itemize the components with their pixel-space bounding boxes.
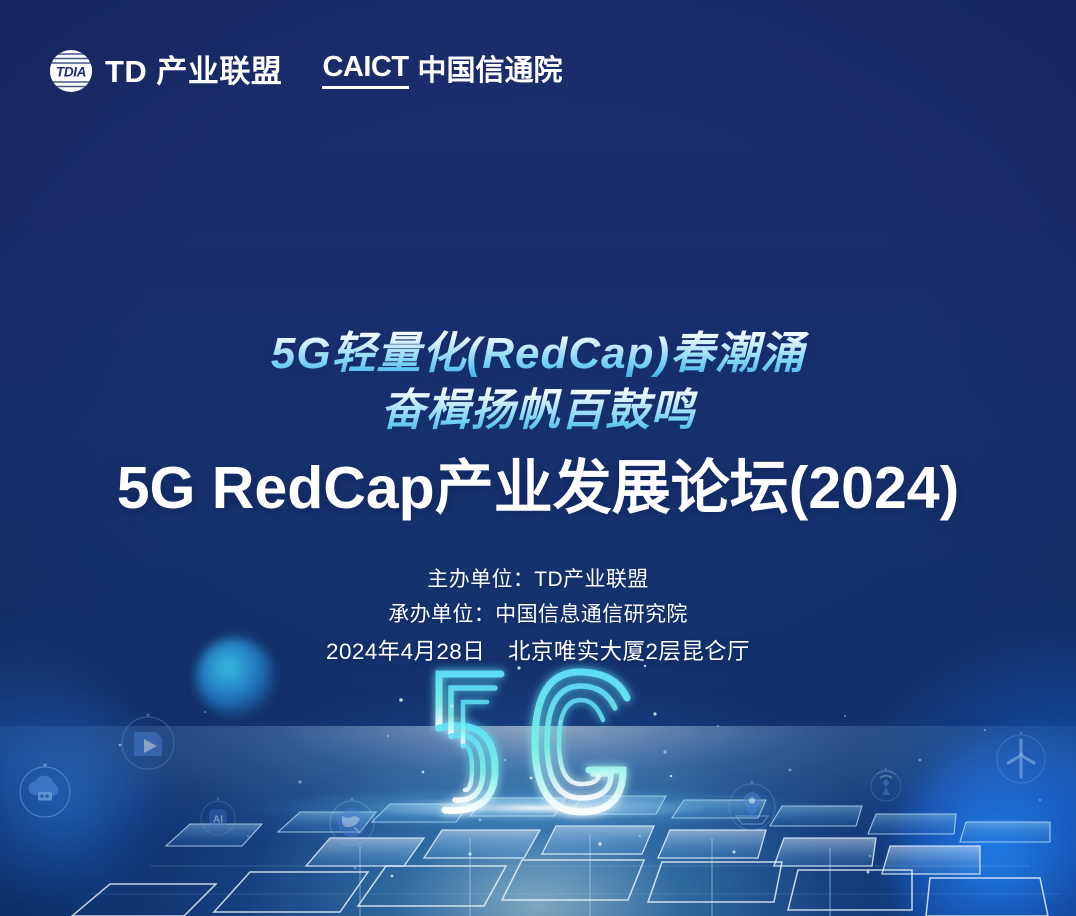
location-pin-icon	[724, 778, 780, 834]
logo-bar: TDIA TD 产业联盟 CAICT 中国信通院	[48, 48, 563, 94]
organizer-line: 主办单位：TD产业联盟	[0, 562, 1076, 597]
poster-canvas: AI	[0, 0, 1076, 916]
video-play-icon	[116, 710, 180, 774]
tdia-mark-icon: TDIA	[48, 48, 94, 94]
page-title: 5G RedCap产业发展论坛(2024)	[0, 455, 1076, 522]
caict-abbr-label: CAICT	[322, 53, 408, 89]
ai-chip-icon: AI	[196, 795, 240, 839]
svg-text:TDIA: TDIA	[56, 65, 86, 80]
slogan-block: 5G轻量化(RedCap)春潮涌 奋楫扬帆百鼓鸣	[0, 326, 1076, 440]
broadcast-antenna-icon	[866, 765, 906, 805]
tech-grid-plane	[0, 726, 1076, 916]
slogan-line-1: 5G轻量化(RedCap)春潮涌	[0, 326, 1076, 383]
undertaker-line: 承办单位：中国信息通信研究院	[0, 597, 1076, 632]
tdia-label: TD 产业联盟	[105, 56, 282, 87]
logo-tdia[interactable]: TDIA TD 产业联盟	[48, 48, 282, 94]
hero-5g-artwork	[383, 652, 693, 832]
globe-network-icon	[324, 794, 380, 850]
caict-cn-label: 中国信通院	[418, 57, 563, 86]
horizon-glow	[128, 778, 948, 838]
svg-text:AI: AI	[213, 815, 223, 826]
bokeh-orb-right	[896, 738, 1076, 916]
bokeh-orb-left	[0, 700, 170, 910]
logo-caict[interactable]: CAICT 中国信通院	[322, 53, 562, 89]
cloud-computing-icon	[14, 759, 76, 821]
datetime-venue-line: 2024年4月28日 北京唯实大厦2层昆仑厅	[0, 633, 1076, 671]
slogan-line-2: 奋楫扬帆百鼓鸣	[0, 383, 1076, 440]
event-details-block: 主办单位：TD产业联盟 承办单位：中国信息通信研究院 2024年4月28日 北京…	[0, 562, 1076, 670]
wind-turbine-icon	[990, 727, 1052, 789]
